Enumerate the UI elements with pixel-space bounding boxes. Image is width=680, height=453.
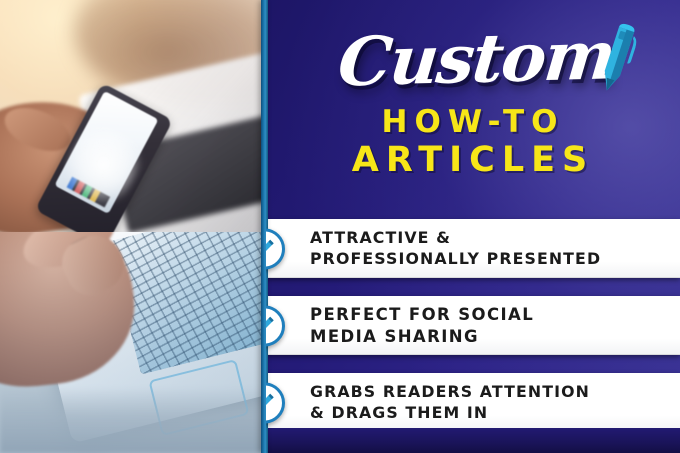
feature-bar[interactable]: GRABS READERS ATTENTION & DRAGS THEM IN (266, 373, 680, 432)
kicker-line-1: HOW-TO (266, 106, 680, 139)
feature-bar-list: ATTRACTIVE & PROFESSIONALLY PRESENTED PE… (266, 219, 680, 432)
feature-bar-label: ATTRACTIVE & PROFESSIONALLY PRESENTED (266, 228, 607, 269)
photo-phone-in-hand (0, 0, 266, 232)
bottom-strip (266, 428, 680, 453)
feature-bar-gap (266, 355, 680, 373)
kicker-line-2: ARTICLES (266, 142, 680, 180)
feature-bar-gap (266, 278, 680, 296)
page-title: Custom (329, 21, 617, 95)
feature-bar-label: GRABS READERS ATTENTION & DRAGS THEM IN (266, 382, 596, 423)
pencil-icon (266, 314, 277, 338)
content-panel: Custom HOW-TO ARTICLES (266, 0, 680, 453)
kicker-text: HOW-TO ARTICLES (266, 106, 680, 180)
title-block: Custom HOW-TO ARTICLES (266, 12, 680, 180)
feature-bar[interactable]: PERFECT FOR SOCIAL MEDIA SHARING (266, 296, 680, 355)
feature-bar-label: PERFECT FOR SOCIAL MEDIA SHARING (266, 304, 540, 347)
banner-card: Custom HOW-TO ARTICLES (0, 0, 680, 453)
photo-hand-on-keyboard (0, 232, 266, 453)
pencil-icon (266, 237, 277, 261)
photo-desk-surface (0, 387, 266, 453)
feature-bar[interactable]: ATTRACTIVE & PROFESSIONALLY PRESENTED (266, 219, 680, 278)
photo-collage (0, 0, 266, 453)
script-title-row: Custom (266, 12, 680, 104)
pencil-icon (266, 391, 277, 415)
